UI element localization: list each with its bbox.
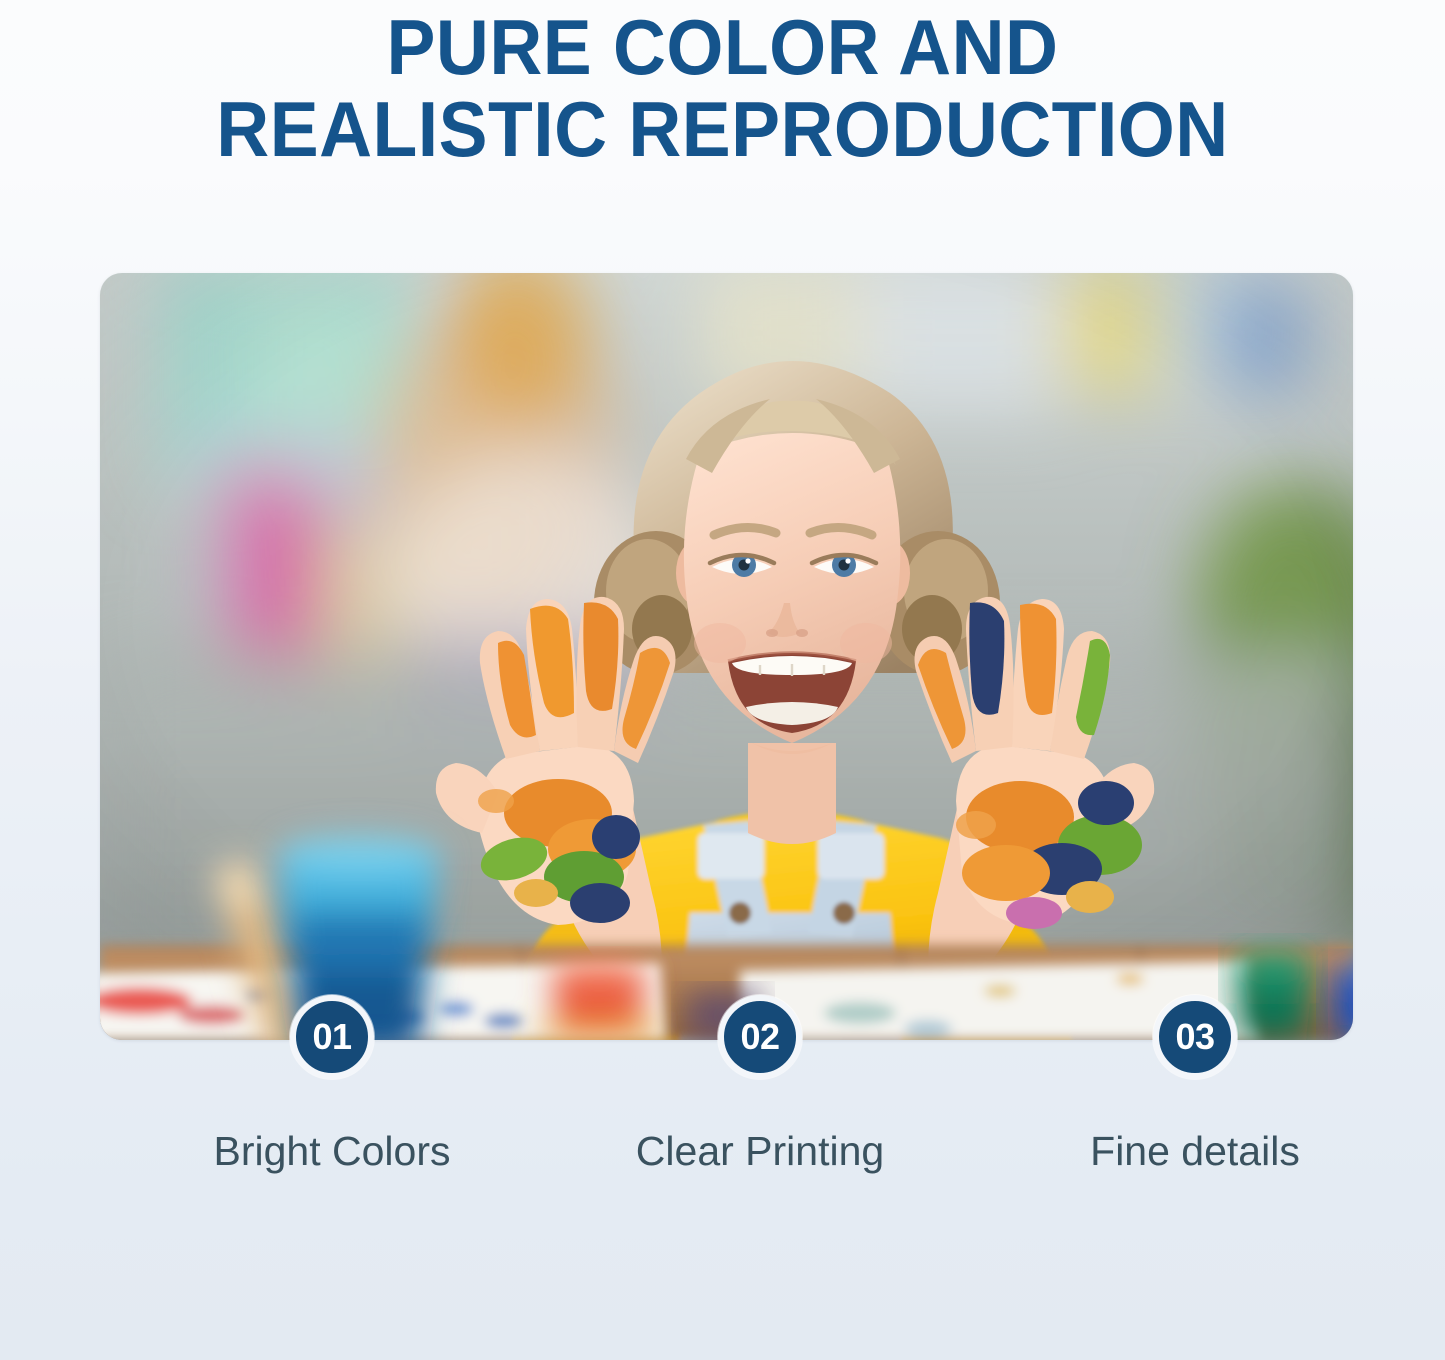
feature-label-fine-details: Fine details — [1045, 1127, 1345, 1175]
badge-03-number: 03 — [1175, 1019, 1214, 1055]
feature-label-clear-printing: Clear Printing — [610, 1127, 910, 1175]
badge-03: 03 — [1153, 995, 1237, 1079]
hero-photo — [100, 273, 1353, 1040]
badge-02-number: 02 — [740, 1019, 779, 1055]
badge-02: 02 — [718, 995, 802, 1079]
feature-item-clear-printing: 02 Clear Printing — [610, 995, 910, 1175]
feature-label-bright-colors: Bright Colors — [182, 1127, 482, 1175]
feature-item-bright-colors: 01 Bright Colors — [182, 995, 482, 1175]
badge-01: 01 — [290, 995, 374, 1079]
page-title: PURE COLOR AND REALISTIC REPRODUCTION — [0, 0, 1445, 170]
hero-photo-illustration — [100, 273, 1353, 1040]
badge-01-number: 01 — [312, 1019, 351, 1055]
feature-item-fine-details: 03 Fine details — [1045, 995, 1345, 1175]
headline-line-1: PURE COLOR AND — [43, 6, 1401, 88]
feature-list: 01 Bright Colors 02 Clear Printing 03 Fi… — [100, 995, 1353, 1225]
headline-line-2: REALISTIC REPRODUCTION — [43, 88, 1401, 170]
